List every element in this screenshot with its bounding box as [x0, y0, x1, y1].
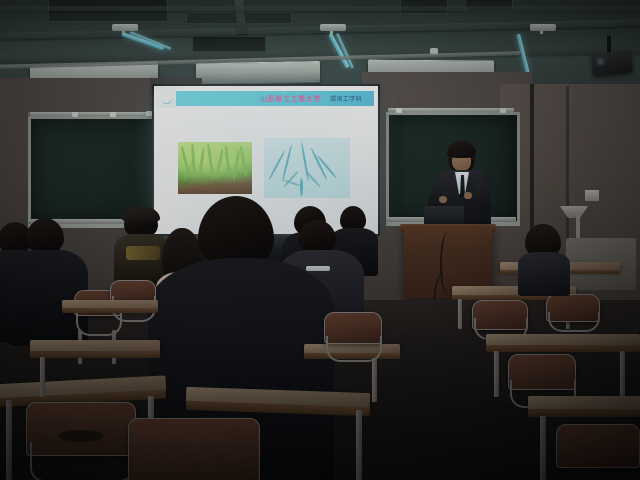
light-fixture	[112, 24, 138, 31]
light-fixture	[530, 24, 556, 31]
board-clip	[72, 112, 78, 117]
chair	[128, 418, 260, 480]
slide-banner: 山形県立工業大学 環境工学科	[176, 91, 374, 106]
ventilation-unit	[196, 61, 320, 85]
desk-edge	[30, 351, 160, 358]
wall-seam	[566, 86, 569, 246]
left-blackboard-rail	[30, 112, 156, 116]
presenter-hair	[447, 141, 476, 158]
desk-leg	[540, 416, 546, 480]
chair	[556, 424, 640, 468]
chair-frame	[548, 312, 600, 332]
desk-edge	[62, 308, 158, 313]
slide-diagram-plant	[264, 138, 350, 198]
attendee-jacket-print	[126, 246, 160, 260]
ceiling-beam	[0, 6, 640, 11]
desk	[528, 396, 640, 410]
podium-laptop	[424, 206, 464, 226]
slide-banner-title: 山形県立工業大学	[260, 94, 321, 104]
ceiling-panel	[192, 36, 266, 52]
desk-leg	[458, 299, 462, 329]
attendee-collar	[306, 266, 330, 271]
lecture-hall-photo: 山形県立工業大学 環境工学科	[0, 0, 640, 480]
attendee-head	[298, 220, 336, 254]
desk-leg	[494, 351, 499, 397]
board-clip	[500, 108, 506, 113]
light-fixture	[320, 24, 346, 31]
board-clip	[396, 108, 402, 113]
slide-logo-icon	[157, 89, 177, 108]
attendee-head	[26, 218, 64, 254]
presenter-hand-left	[439, 196, 447, 203]
slide-banner-subtitle: 環境工学科	[330, 94, 362, 103]
desk-leg	[40, 357, 45, 397]
desk-leg	[372, 358, 377, 402]
desk-edge	[486, 345, 640, 352]
presenter-hand-right	[464, 192, 472, 199]
chair-frame	[326, 336, 382, 362]
desk-leg	[6, 400, 12, 480]
desk-leg	[620, 351, 625, 397]
chair-frame	[30, 442, 134, 480]
attendee-torso	[518, 252, 570, 296]
board-clip	[110, 112, 116, 117]
slide-photo-grass	[178, 142, 252, 194]
wall-outlet-plate	[585, 190, 599, 201]
chair-seat	[58, 430, 104, 442]
right-blackboard-rail	[388, 108, 514, 112]
desk-leg	[356, 410, 362, 480]
ceiling-panel	[48, 0, 168, 22]
